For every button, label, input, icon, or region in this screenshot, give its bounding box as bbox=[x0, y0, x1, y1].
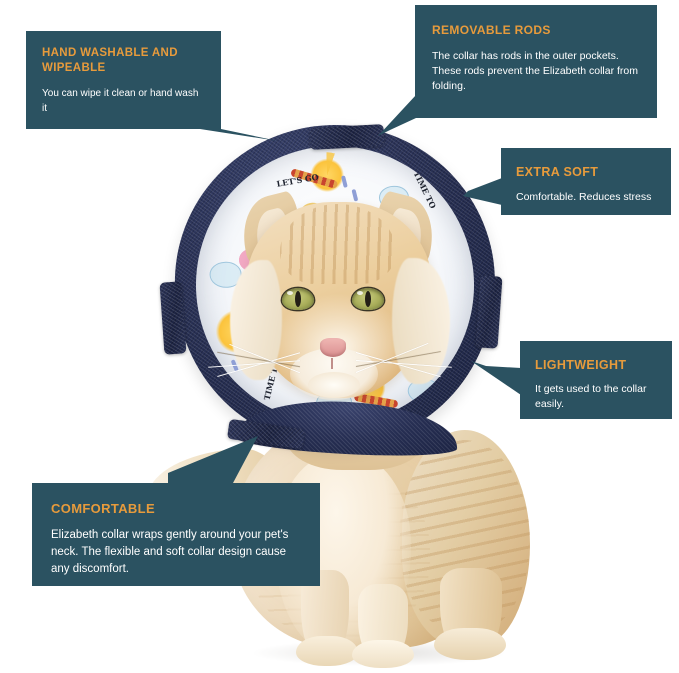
cat-eye-right bbox=[352, 288, 384, 310]
callout-title: HAND WASHABLE AND WIPEABLE bbox=[42, 46, 205, 76]
callout-extra-soft[interactable]: EXTRA SOFT Comfortable. Reduces stress bbox=[501, 148, 671, 215]
pupil bbox=[295, 291, 301, 307]
callout-description: Comfortable. Reduces stress bbox=[516, 190, 657, 205]
cat-eye-left bbox=[282, 288, 314, 310]
eye-glint bbox=[287, 291, 293, 295]
callout-title: EXTRA SOFT bbox=[516, 164, 657, 181]
callout-description: Elizabeth collar wraps gently around you… bbox=[51, 527, 302, 577]
pupil bbox=[365, 291, 371, 307]
eye-glint bbox=[357, 291, 363, 295]
callout-description: You can wipe it clean or hand wash it bbox=[42, 87, 205, 116]
rod-pocket-tab-top-weave bbox=[309, 124, 384, 150]
callout-comfortable[interactable]: COMFORTABLE Elizabeth collar wraps gentl… bbox=[32, 483, 320, 586]
callout-title: LIGHTWEIGHT bbox=[535, 357, 658, 374]
cat-chin bbox=[308, 372, 360, 398]
callout-lightweight[interactable]: LIGHTWEIGHT It gets used to the collar e… bbox=[520, 341, 672, 419]
callout-title: COMFORTABLE bbox=[51, 500, 302, 517]
callout-description: The collar has rods in the outer pockets… bbox=[432, 49, 641, 95]
dash-doodle bbox=[351, 189, 358, 202]
product-infographic: BeGood BeGood TIME TO BE WILD TIME TO LE… bbox=[0, 0, 679, 673]
cat-back-paw bbox=[434, 628, 506, 660]
callout-description: It gets used to the collar easily. bbox=[535, 382, 658, 412]
cat-front-paw-right bbox=[296, 636, 358, 666]
cat-front-paw-left bbox=[352, 640, 414, 668]
cat-mouth bbox=[331, 358, 333, 369]
callout-hand-washable[interactable]: HAND WASHABLE AND WIPEABLE You can wipe … bbox=[26, 31, 221, 129]
callout-title: REMOVABLE RODS bbox=[432, 23, 641, 39]
callout-removable-rods[interactable]: REMOVABLE RODS The collar has rods in th… bbox=[415, 5, 657, 118]
rod-pocket-tab-right-weave bbox=[476, 275, 503, 348]
cat-nose bbox=[320, 338, 346, 357]
